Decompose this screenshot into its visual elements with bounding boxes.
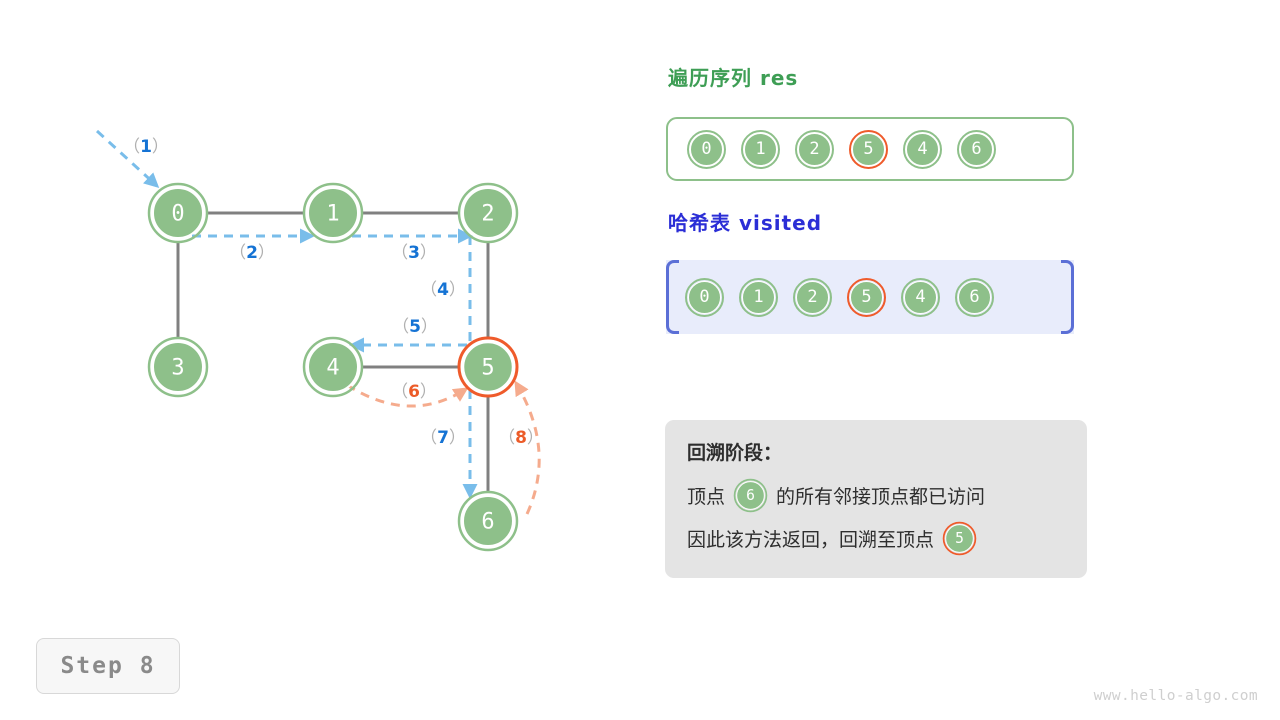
traversal-arrows-forward — [97, 131, 470, 496]
arrow-step-8 — [516, 383, 539, 514]
res-chip-3-ring — [849, 130, 888, 169]
backtrack-arrows — [347, 383, 539, 514]
bracket-right-icon — [1061, 260, 1074, 334]
right-panel: 遍历序列 res 0 1 2 5 4 6 哈希表 visited — [665, 0, 1280, 720]
res-chip-0-ring — [687, 130, 726, 169]
info-line-1-after: 的所有邻接顶点都已访问 — [776, 482, 985, 509]
res-chip-1-ring — [741, 130, 780, 169]
visited-chip-1-ring — [739, 278, 778, 317]
visited-chip-1[interactable]: 1 — [739, 278, 778, 317]
graph-node-4-label: 4 — [326, 356, 339, 381]
graph-canvas: 0 1 2 3 4 — [0, 0, 650, 620]
info-heading: 回溯阶段： — [687, 438, 1087, 465]
visited-chip-5-ring — [955, 278, 994, 317]
graph-node-2-label: 2 — [481, 202, 494, 227]
graph-node-3-label: 3 — [171, 356, 184, 381]
step-order-label-7: （7） — [420, 428, 466, 448]
visited-chip-4-ring — [901, 278, 940, 317]
step-order-label-8: （8） — [498, 428, 544, 448]
graph-node-5[interactable]: 5 — [459, 338, 517, 396]
graph-svg: 0 1 2 3 4 — [0, 0, 650, 620]
visited-chip-4[interactable]: 4 — [901, 278, 940, 317]
graph-node-3[interactable]: 3 — [149, 338, 207, 396]
res-chip-5[interactable]: 6 — [957, 130, 996, 169]
res-chip-4[interactable]: 4 — [903, 130, 942, 169]
res-chip-4-ring — [903, 130, 942, 169]
res-chip-2[interactable]: 2 — [795, 130, 834, 169]
graph-node-2[interactable]: 2 — [459, 184, 517, 242]
res-chip-2-ring — [795, 130, 834, 169]
bracket-left-icon — [666, 260, 679, 334]
step-order-label-3: （3） — [391, 243, 437, 263]
graph-nodes: 0 1 2 3 4 — [149, 184, 517, 550]
visited-chip-3[interactable]: 5 — [847, 278, 886, 317]
res-chip-5-ring — [957, 130, 996, 169]
watermark: www.hello-algo.com — [1094, 688, 1258, 704]
visited-title: 哈希表 visited — [668, 207, 822, 236]
info-chip-vertex-6-ring — [734, 478, 768, 512]
info-line-2-before: 因此该方法返回，回溯至顶点 — [687, 525, 934, 552]
step-badge: Step 8 — [36, 638, 180, 694]
info-line-1-before: 顶点 — [687, 482, 725, 509]
info-line-1: 顶点 6 的所有邻接顶点都已访问 — [687, 476, 1087, 514]
step-order-label-5: （5） — [392, 317, 438, 337]
res-container: 0 1 2 5 4 6 — [666, 117, 1074, 181]
graph-node-1-label: 1 — [326, 202, 339, 227]
step-order-label-6: （6） — [391, 382, 437, 402]
visited-chip-2[interactable]: 2 — [793, 278, 832, 317]
visited-chip-3-ring — [847, 278, 886, 317]
graph-node-5-label: 5 — [481, 356, 494, 381]
info-box: 回溯阶段： 顶点 6 的所有邻接顶点都已访问 因此该方法返回，回溯至顶点 5 — [665, 420, 1087, 578]
graph-node-0[interactable]: 0 — [149, 184, 207, 242]
visited-chip-5[interactable]: 6 — [955, 278, 994, 317]
graph-node-6[interactable]: 6 — [459, 492, 517, 550]
res-chip-3[interactable]: 5 — [849, 130, 888, 169]
visited-chip-2-ring — [793, 278, 832, 317]
graph-node-0-label: 0 — [171, 202, 184, 227]
visited-chip-0-ring — [685, 278, 724, 317]
info-chip-vertex-5-ring — [943, 521, 977, 555]
res-chip-0[interactable]: 0 — [687, 130, 726, 169]
graph-node-6-label: 6 — [481, 510, 494, 535]
visited-container: 0 1 2 5 4 6 — [666, 260, 1074, 334]
res-title: 遍历序列 res — [668, 62, 798, 91]
graph-node-4[interactable]: 4 — [304, 338, 362, 396]
info-line-2: 因此该方法返回，回溯至顶点 5 — [687, 519, 1087, 557]
info-chip-vertex-6: 6 — [734, 478, 768, 512]
visited-chip-0[interactable]: 0 — [685, 278, 724, 317]
res-chip-1[interactable]: 1 — [741, 130, 780, 169]
step-order-label-4: （4） — [420, 280, 466, 300]
graph-node-1[interactable]: 1 — [304, 184, 362, 242]
info-chip-vertex-5: 5 — [943, 521, 977, 555]
step-order-label-1: （1） — [123, 137, 169, 157]
step-order-label-2: （2） — [229, 243, 275, 263]
